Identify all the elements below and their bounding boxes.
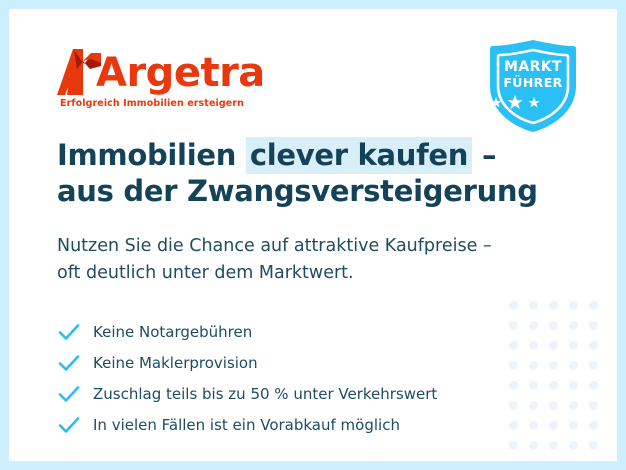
- list-item-label: Keine Maklerprovision: [93, 352, 258, 374]
- logo-row: Argetra: [57, 43, 265, 95]
- market-leader-badge: MARKT FÜHRER: [487, 38, 579, 134]
- list-item-label: In vielen Fällen ist ein Vorabkauf mögli…: [93, 414, 400, 436]
- brand-logo: Argetra Erfolgreich Immobilien ersteiger…: [57, 43, 265, 110]
- decorative-dot: [583, 375, 603, 395]
- headline-line-2: aus der Zwangsversteigerung: [57, 173, 577, 209]
- headline-line-1: Immobilien clever kaufen –: [57, 137, 577, 173]
- subheadline: Nutzen Sie die Chance auf attraktive Kau…: [57, 233, 577, 287]
- check-icon: [57, 382, 81, 406]
- decorative-dot: [583, 335, 603, 355]
- subheadline-line-1: Nutzen Sie die Chance auf attraktive Kau…: [57, 233, 577, 260]
- list-item-label: Keine Notargebühren: [93, 321, 252, 343]
- headline-highlight: clever kaufen: [246, 137, 472, 174]
- list-item: Zuschlag teils bis zu 50 % unter Verkehr…: [57, 379, 577, 408]
- decorative-dot: [583, 435, 603, 455]
- brand-name: Argetra: [96, 53, 265, 93]
- promo-banner: Argetra Erfolgreich Immobilien ersteiger…: [0, 0, 626, 470]
- headline-text-before: Immobilien: [57, 138, 246, 172]
- decorative-dot: [583, 355, 603, 375]
- banner-card: Argetra Erfolgreich Immobilien ersteiger…: [9, 9, 617, 461]
- check-icon: [57, 320, 81, 344]
- headline: Immobilien clever kaufen – aus der Zwang…: [57, 137, 577, 209]
- list-item: Keine Maklerprovision: [57, 348, 577, 377]
- check-icon: [57, 351, 81, 375]
- decorative-dot: [583, 395, 603, 415]
- list-item: Keine Notargebühren: [57, 317, 577, 346]
- argetra-a-arrow-logo-icon: [57, 47, 101, 95]
- decorative-dot: [583, 295, 603, 315]
- subheadline-line-2: oft deutlich unter dem Marktwert.: [57, 260, 577, 287]
- brand-tagline: Erfolgreich Immobilien ersteigern: [60, 98, 265, 110]
- benefit-list: Keine Notargebühren Keine Maklerprovisio…: [57, 317, 577, 439]
- banner-content: Immobilien clever kaufen – aus der Zwang…: [57, 137, 577, 441]
- check-icon: [57, 413, 81, 437]
- list-item: In vielen Fällen ist ein Vorabkauf mögli…: [57, 410, 577, 439]
- decorative-dot: [583, 415, 603, 435]
- shield-icon: [487, 38, 579, 134]
- decorative-dot: [583, 315, 603, 335]
- list-item-label: Zuschlag teils bis zu 50 % unter Verkehr…: [93, 383, 437, 405]
- headline-text-after: –: [472, 138, 496, 172]
